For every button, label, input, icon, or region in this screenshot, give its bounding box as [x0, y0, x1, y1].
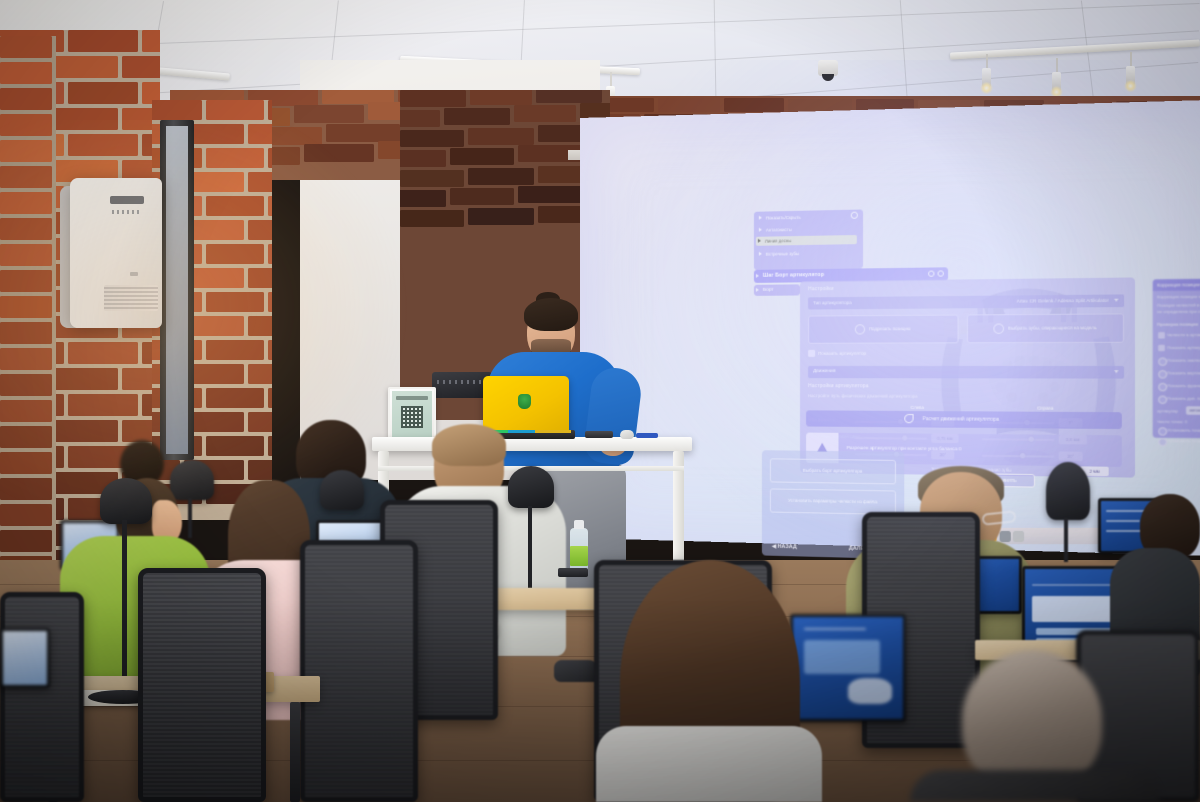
- spotlight-icon: [1052, 72, 1061, 92]
- column-header-left: Слева: [910, 405, 923, 410]
- step-bar-icons[interactable]: [928, 270, 944, 276]
- help-icon[interactable]: [938, 270, 944, 276]
- chevron-down-icon[interactable]: [1114, 370, 1118, 373]
- select-teeth-button[interactable]: Выбрать зубы, опирающиеся на модель: [967, 313, 1124, 343]
- qr-code-icon: [401, 406, 423, 428]
- brick-left-face: [0, 36, 56, 606]
- desk-lamp-arm: [528, 506, 532, 588]
- checkbox-jaws-in-articulator[interactable]: Челюсти в артикуляторе: [1158, 332, 1200, 339]
- checkbox-additional-plane[interactable]: Показать доп. плоскость: [1158, 396, 1200, 403]
- ac-grille: [104, 285, 158, 311]
- tree-item-2[interactable]: Встречные зубы: [757, 249, 799, 259]
- tree-header[interactable]: Показать/Скрыть: [757, 213, 801, 223]
- panel-line: Позиция челюстей в артикуляторе: [1157, 302, 1200, 308]
- desk-lamp-arm: [1064, 518, 1068, 562]
- panel-line: не определена при стоматологической: [1157, 308, 1200, 314]
- articulator-type-field[interactable]: Тип артикулятора Artex CR Gelenk / Adess…: [808, 294, 1124, 309]
- tree-item-0[interactable]: Антагонисты: [757, 225, 792, 235]
- articulator-mode-select[interactable]: автоматически: [1186, 406, 1200, 415]
- presenter-hair: [524, 298, 578, 331]
- arch-icon: [993, 324, 1004, 334]
- panel-group-title: Проверка позиции: [1157, 321, 1200, 327]
- chevron-right-icon: [759, 252, 762, 256]
- android-robot-icon: [518, 394, 531, 409]
- wizard-step2-label: Борт: [763, 288, 774, 293]
- field-value: Artex CR Gelenk / Adesso Split Artikulat…: [1017, 295, 1109, 308]
- calc-label: Расчет движений артикулятора: [922, 416, 999, 423]
- tree-item-1-selected[interactable]: Линия десны: [756, 235, 857, 246]
- jaw-position-panel: Коррекция позиции челюсти Коррекция пози…: [1153, 278, 1200, 438]
- tree-item-label: Линия десны: [765, 238, 792, 243]
- equipment-ports: [437, 380, 487, 384]
- calculate-movements-button[interactable]: Расчет движений артикулятора: [806, 410, 1122, 429]
- settings-section-title: Настройки: [808, 286, 834, 292]
- qr-sign-caption: [396, 396, 428, 400]
- checkbox-vertical-plane[interactable]: Показать вертикальную плоскость: [1158, 370, 1200, 376]
- desk-lamp-arm: [122, 520, 127, 700]
- back-button[interactable]: ◀ НАЗАД: [772, 544, 797, 551]
- articulator-field-label: артикуляр: [1157, 408, 1184, 413]
- wizard-step-label: Шаг Борт артикулятор: [763, 272, 824, 279]
- chevron-right-icon: [756, 288, 759, 292]
- blue-marker[interactable]: [636, 433, 658, 438]
- classroom-scene: Показать/Скрыть Антагонисты Линия десны …: [0, 0, 1200, 802]
- panel-line: Коррекция позиции челюсти: [1157, 293, 1200, 299]
- office-chair[interactable]: [138, 568, 266, 802]
- spotlight-icon: [982, 68, 991, 88]
- tree-item-label: Встречные зубы: [766, 251, 799, 257]
- desk-lamp-head: [508, 466, 554, 508]
- show-articulator-checkbox[interactable]: Показать артикулятор: [808, 350, 866, 358]
- radio-set-point-b[interactable]: Установить точку на модели: [1158, 438, 1200, 445]
- bottle-cap: [574, 520, 584, 529]
- window-glass: [166, 126, 188, 454]
- trim-position-button[interactable]: Подрезать позицию: [808, 315, 958, 344]
- spotlight-icon: [1126, 66, 1135, 86]
- desk-lamp-head: [170, 460, 214, 500]
- play-icon: [904, 414, 913, 423]
- wizard-step-bar-secondary[interactable]: Борт: [754, 284, 800, 296]
- desk-lamp-head: [1046, 462, 1090, 520]
- tree-header-label: Показать/Скрыть: [766, 215, 801, 221]
- chevron-right-icon: [759, 228, 762, 232]
- select-articulator-button[interactable]: Выбрать борт артикулятора: [770, 458, 896, 484]
- ac-button[interactable]: [130, 272, 138, 276]
- button-label: Подрезать позицию: [869, 326, 911, 332]
- student-long-hair-body: [596, 726, 822, 802]
- button-label: Выбрать зубы, опирающиеся на модель: [1008, 325, 1097, 332]
- tree-item-label: Антагонисты: [766, 227, 792, 233]
- model-tree-panel[interactable]: Показать/Скрыть Антагонисты Линия десны …: [754, 209, 863, 269]
- ac-display: [110, 196, 144, 204]
- movements-collapse[interactable]: Движения: [808, 366, 1124, 379]
- chevron-right-icon: [759, 216, 762, 220]
- trash-icon[interactable]: [1013, 530, 1024, 541]
- checkbox-frankfurt-plane[interactable]: Показать франкфуртскую плоскость: [1158, 383, 1200, 390]
- desk-lamp-head: [100, 478, 152, 524]
- office-chair[interactable]: [300, 540, 418, 802]
- gear-icon[interactable]: [851, 212, 858, 219]
- smartphone[interactable]: [585, 431, 613, 438]
- chevron-right-icon: [756, 274, 759, 278]
- panel-title: Коррекция позиции челюсти: [1153, 278, 1200, 291]
- radio-set-point-a[interactable]: Установить точку на модели: [1158, 427, 1200, 434]
- student-monitor-front-left[interactable]: [0, 628, 50, 688]
- desk-leg: [290, 702, 300, 802]
- checkbox-occlusal-plane[interactable]: Показать окклюзионную плоскость: [1158, 357, 1200, 363]
- desk-lamp-arm: [188, 498, 192, 538]
- chevron-down-icon[interactable]: [1114, 299, 1118, 302]
- computer-mouse[interactable]: [620, 430, 634, 439]
- collapse-label: Движения: [813, 369, 836, 374]
- office-chair[interactable]: [0, 592, 84, 802]
- checkbox-show-articulator[interactable]: Показать артикулятор: [1158, 345, 1200, 351]
- student-bald-head: [962, 650, 1102, 790]
- smartphone[interactable]: [558, 568, 588, 577]
- security-camera-icon: [818, 60, 838, 76]
- column-header-right: Справа: [1037, 405, 1053, 410]
- articulator-settings-title: Настройки артикулятора: [808, 383, 869, 389]
- ac-indicator-dots: [112, 210, 140, 214]
- scissors-icon: [855, 324, 865, 334]
- student-bald-body: [910, 770, 1160, 802]
- point-count-label: Число точек: 0: [1157, 419, 1200, 425]
- info-icon[interactable]: [928, 271, 934, 277]
- chevron-right-icon: [758, 239, 761, 243]
- settings-icon[interactable]: [999, 530, 1010, 541]
- articulator-settings-note: Настройте путь физических движений артик…: [808, 393, 917, 399]
- field-label: Тип артикулятора: [813, 297, 851, 309]
- student-monitor-foreground[interactable]: [790, 614, 906, 722]
- student-grey-hair: [432, 424, 506, 466]
- desk-lamp-head: [320, 470, 364, 510]
- bottle-label: [570, 546, 588, 566]
